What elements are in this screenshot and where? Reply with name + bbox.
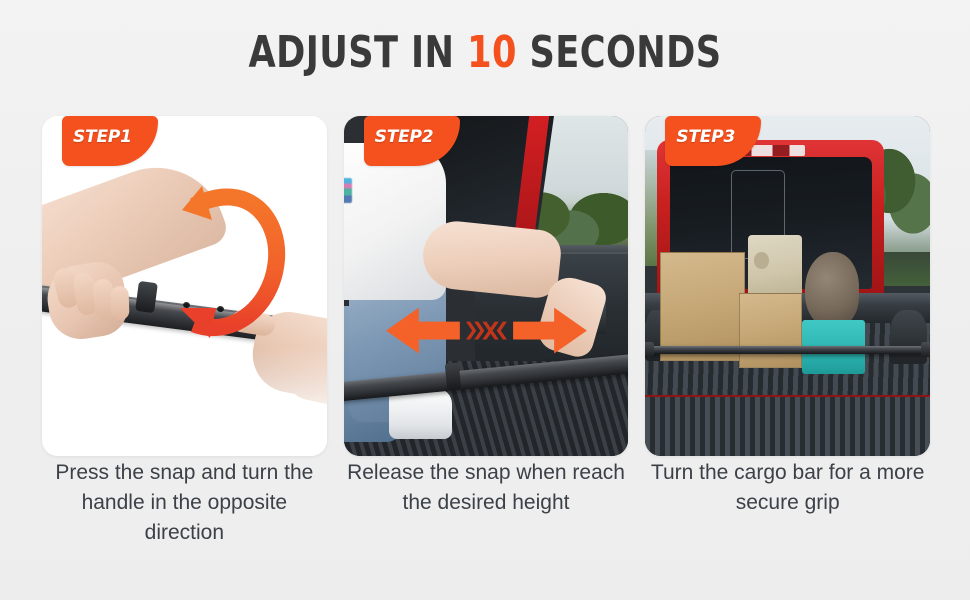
title-prefix: ADJUST IN	[249, 27, 468, 78]
step-badge-label-3: STEP3	[676, 127, 735, 147]
page-title: ADJUST IN 10 SECONDS	[97, 27, 873, 78]
cargo-box-1	[660, 252, 745, 361]
double-arrow-icon	[384, 300, 589, 361]
truck-tailgate	[645, 395, 930, 456]
step-caption-2: Release the snap when reach the desired …	[344, 458, 629, 548]
infographic-page: ADJUST IN 10 SECONDS	[0, 0, 970, 600]
steps-card-row: STEP1	[42, 116, 930, 456]
step-card-3[interactable]: STEP3	[645, 116, 930, 456]
bar-end-cap-left	[645, 342, 654, 357]
step-card-1[interactable]: STEP1	[42, 116, 327, 456]
image-bottom-fade-1	[42, 346, 327, 456]
bar-collar-shape	[135, 281, 158, 313]
step-badge-label-1: STEP1	[73, 127, 132, 147]
cargo-box-2	[739, 293, 802, 368]
bar-collar-shape	[445, 362, 462, 390]
title-suffix: SECONDS	[517, 27, 722, 78]
tshirt-graphic	[344, 178, 353, 203]
cargo-bar-shape	[645, 346, 930, 355]
container-cap	[754, 252, 770, 269]
cargo-duffel-bag	[805, 252, 859, 327]
finger-4	[110, 286, 129, 321]
step-card-2[interactable]: STEP2	[344, 116, 629, 456]
person-shoe	[389, 388, 452, 439]
bar-end-cap-right	[921, 342, 930, 357]
rotation-arrow-icon	[160, 168, 290, 358]
step-badge-label-2: STEP2	[375, 127, 434, 147]
step-caption-3: Turn the cargo bar for a more secure gri…	[645, 458, 930, 548]
step-caption-1: Press the snap and turn the handle in th…	[42, 458, 327, 548]
captions-row: Press the snap and turn the handle in th…	[42, 458, 930, 548]
title-highlight-number: 10	[467, 27, 517, 78]
